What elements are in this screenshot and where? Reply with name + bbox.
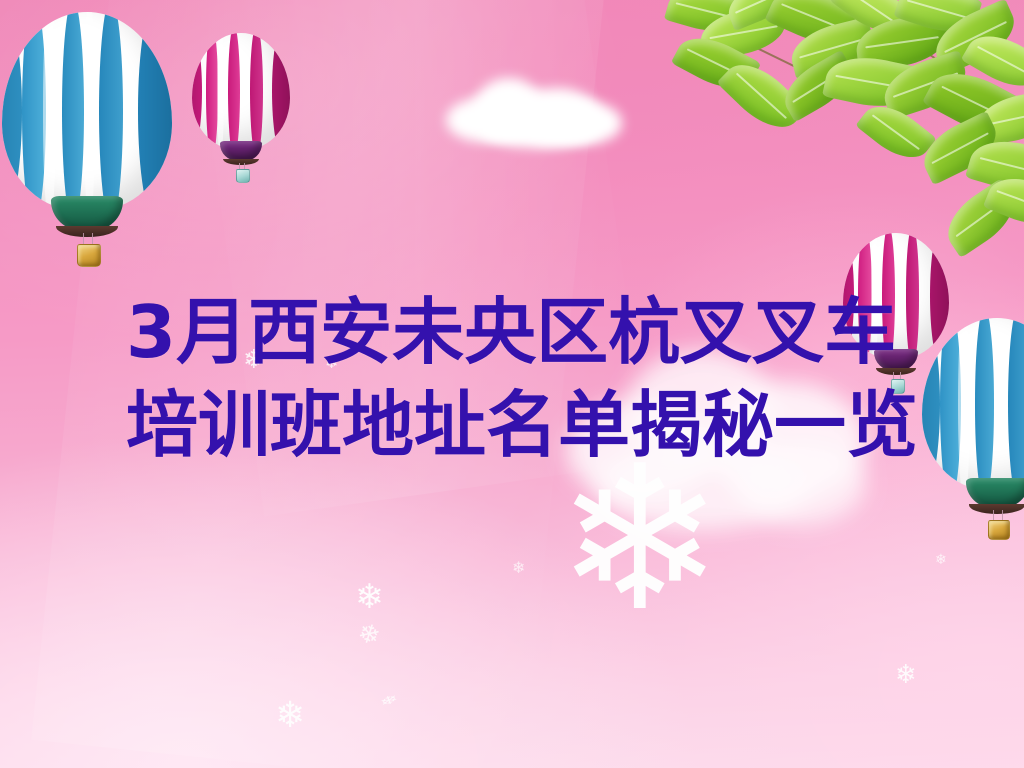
balloon-envelope [192,33,290,149]
poster-title-line-2: 培训班地址名单揭秘一览 [126,379,926,472]
snowflake-icon: ❄ [275,698,305,734]
balloon-envelope [922,318,1024,490]
balloon-blue-large-left [2,12,172,242]
cloud-top-center [440,72,630,152]
balloon-blue-right [922,318,1024,518]
snowflake-icon: ❄ [355,580,384,614]
poster-title-line-1: 3月西安未央区杭叉叉车 [126,286,926,379]
poster-title: 3月西安未央区杭叉叉车 培训班地址名单揭秘一览 [126,286,926,472]
balloon-skirt [51,196,122,231]
snowflake-icon: ❄ [512,560,525,576]
balloon-basket [236,169,250,183]
green-leaf-cluster [684,0,1024,250]
snowflake-icon: ❄ [895,662,917,688]
balloon-basket [988,520,1010,540]
poster-canvas: ❄ ❄ ❄ ❄ ❄ ❄ ❄ ❄ ❄ ❄ 3月西安未央区杭叉叉车 培训班地址名单揭… [0,0,1024,768]
balloon-envelope [2,12,172,210]
balloon-basket [77,244,101,267]
snowflake-icon: ❄ [935,553,947,567]
balloon-magenta-small-left [192,33,290,168]
